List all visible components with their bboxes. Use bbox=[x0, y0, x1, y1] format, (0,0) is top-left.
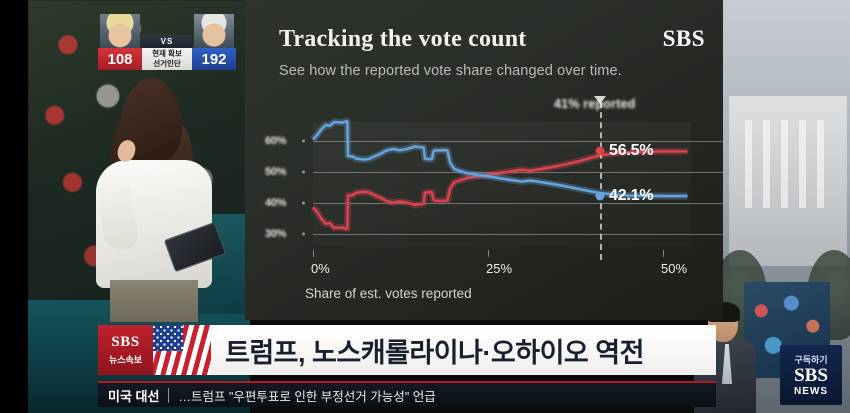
sbs-breaking-badge: SBS 뉴스속보 bbox=[98, 325, 153, 375]
letterbox-left bbox=[0, 0, 28, 413]
ticker-text: …트럼프 "우편투표로 인한 부정선거 가능성" 언급 bbox=[178, 386, 435, 405]
trump-electoral-count: 108 bbox=[98, 48, 142, 70]
reported-annotation-label: 41% reported bbox=[554, 97, 636, 111]
news-ticker: 미국 대선 …트럼프 "우편투표로 인한 부정선거 가능성" 언급 bbox=[98, 381, 716, 407]
end-point-biden bbox=[596, 192, 605, 201]
vs-label: VS bbox=[142, 35, 192, 48]
ticker-category: 미국 대선 bbox=[108, 386, 159, 405]
scoreboard-caption-line2: 선거인단 bbox=[153, 59, 181, 69]
chart-x-axis-title: Share of est. votes reported bbox=[305, 286, 472, 301]
sbs-badge-logo: SBS bbox=[111, 334, 139, 351]
vote-count-chart-panel: Tracking the vote count See how the repo… bbox=[245, 0, 723, 320]
electoral-scoreboard: 108 VS 현재 확보 선거인단 192 bbox=[98, 22, 236, 70]
sbs-news-word: NEWS bbox=[794, 386, 828, 397]
ticker-divider bbox=[168, 388, 169, 403]
biden-electoral-count: 192 bbox=[192, 48, 236, 70]
sbs-watermark: SBS bbox=[663, 26, 705, 52]
biden-photo bbox=[194, 14, 234, 48]
scoreboard-caption-line1: 현재 확보 bbox=[152, 49, 182, 59]
subscribe-badge[interactable]: 구독하기 SBS NEWS bbox=[780, 345, 842, 405]
us-flag-icon bbox=[153, 325, 211, 375]
end-point-trump bbox=[596, 147, 605, 156]
scoreboard-caption: 현재 확보 선거인단 bbox=[142, 48, 192, 70]
broadcast-screen: Tracking the vote count See how the repo… bbox=[0, 0, 850, 413]
end-label-trump: 56.5% bbox=[609, 142, 653, 160]
anchor-presenter bbox=[92, 78, 214, 320]
sbs-news-logo: SBS bbox=[794, 366, 828, 386]
lower-third-banner: SBS 뉴스속보 트럼프, 노스캐롤라이나·오하이오 역전 bbox=[98, 325, 716, 375]
reported-marker-line bbox=[600, 102, 602, 260]
end-label-biden: 42.1% bbox=[609, 187, 653, 205]
sbs-badge-subtitle: 뉴스속보 bbox=[109, 353, 142, 366]
headline-text: 트럼프, 노스캐롤라이나·오하이오 역전 bbox=[211, 325, 716, 375]
trump-photo bbox=[100, 14, 140, 48]
